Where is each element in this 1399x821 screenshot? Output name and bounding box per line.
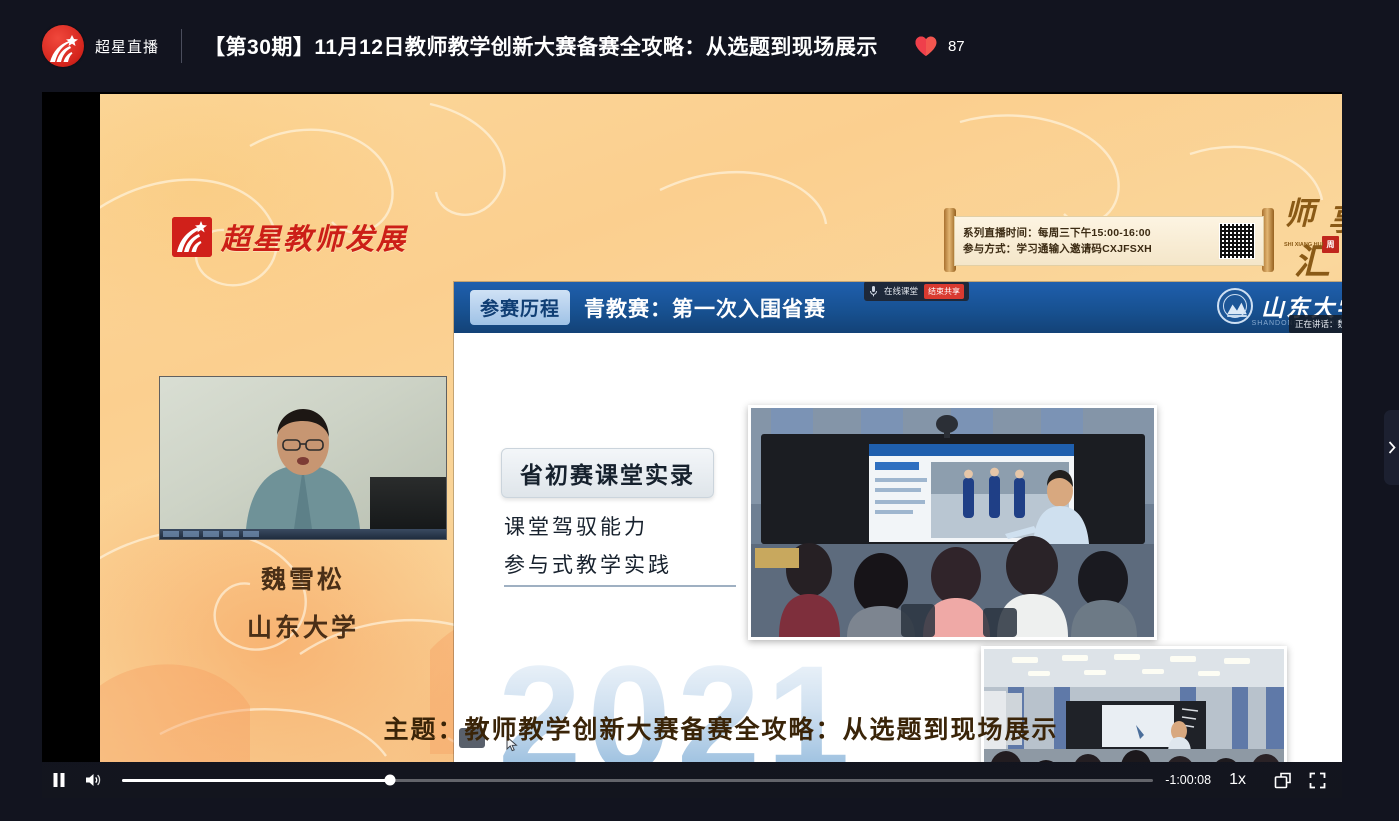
end-share-button[interactable]: 结束共享 xyxy=(924,284,964,299)
shared-screen[interactable]: 参赛历程 青教赛：第一次入围省赛 山东大学 SHANDONG UNIVERSIT… xyxy=(454,282,1342,762)
slide-bullet-1: 课堂驾驭能力 xyxy=(504,511,648,541)
logo-swoosh-icon xyxy=(48,34,80,64)
scroll-paper: 系列直播时间：每周三下午15:00-16:00 参与方式：学习通输入邀请码CXJ… xyxy=(954,216,1264,266)
brand-block: 超星直播 xyxy=(42,25,159,67)
progress-track[interactable] xyxy=(122,779,1153,782)
chaoxing-star-logo-icon xyxy=(42,25,84,67)
webcam-dark-furniture xyxy=(370,477,446,529)
picture-in-picture-button[interactable] xyxy=(1266,762,1300,798)
qr-code-icon xyxy=(1219,223,1255,259)
taskbar-item xyxy=(203,531,219,537)
taskbar-item xyxy=(223,531,239,537)
shixianghui-calligraphy: 师 享 汇 周 SHI XIANG HUI xyxy=(1282,196,1342,288)
slide-section-chip: 参赛历程 xyxy=(470,290,570,325)
expand-side-panel-button[interactable] xyxy=(1384,410,1399,485)
teacher-development-logo: 超星教师发展 xyxy=(172,216,407,258)
slide-header-title: 青教赛：第一次入围省赛 xyxy=(584,293,826,323)
taskbar-item xyxy=(163,531,179,537)
playback-rate-button[interactable]: 1x xyxy=(1229,771,1246,789)
player-controls: -1:00:08 1x xyxy=(42,762,1342,798)
chaoxing-mark-icon xyxy=(172,217,212,257)
calligraphy-pinyin: SHI XIANG HUI xyxy=(1284,242,1323,249)
video-stage[interactable]: 超星教师发展 系列直播时间：每周三下午15:00-16:00 参与方式：学习通输… xyxy=(42,92,1342,762)
live-title: 【第30期】11月12日教师教学创新大赛备赛全攻略：从选题到现场展示 xyxy=(204,31,878,61)
divider xyxy=(181,29,182,63)
picture-in-picture-icon xyxy=(1274,772,1292,789)
teacher-development-logo-text: 超星教师发展 xyxy=(221,216,407,258)
classroom-photo-1 xyxy=(748,405,1157,640)
progress-fill xyxy=(122,779,390,782)
brand-name: 超星直播 xyxy=(95,36,159,57)
volume-icon xyxy=(84,772,102,788)
heart-icon xyxy=(914,35,938,57)
presenter-webcam xyxy=(159,376,447,540)
theme-banner: 主题：教师教学创新大赛备赛全攻略：从选题到现场展示 xyxy=(100,710,1342,746)
play-pause-button[interactable] xyxy=(42,762,76,798)
calligraphy-char-xiang: 享 xyxy=(1328,204,1342,235)
seal-stamp-icon: 周 xyxy=(1322,236,1339,253)
fullscreen-button[interactable] xyxy=(1300,762,1334,798)
slide-body: 省初赛课堂实录 课堂驾驭能力 参与式教学实践 2021 xyxy=(454,333,1342,762)
shandong-university-emblem-icon xyxy=(1217,288,1253,324)
slide-header: 参赛历程 青教赛：第一次入围省赛 山东大学 SHANDONG UNIVERSIT… xyxy=(454,282,1342,333)
slide-bullet-2: 参与式教学实践 xyxy=(504,549,672,579)
emblem-mountain-icon xyxy=(1221,292,1253,324)
bullet-underline xyxy=(504,585,736,587)
seek-bar[interactable] xyxy=(110,762,1165,798)
captured-taskbar xyxy=(160,529,446,539)
remaining-time: -1:00:08 xyxy=(1165,773,1211,787)
fullscreen-icon xyxy=(1309,772,1326,789)
like-counter[interactable]: 87 xyxy=(914,35,965,57)
classroom-photo-1-image xyxy=(751,408,1154,637)
slide-pill-title: 省初赛课堂实录 xyxy=(501,448,714,498)
meeting-mini-toolbar[interactable]: 在线课堂 结束共享 xyxy=(864,282,969,301)
star-swoosh-icon xyxy=(172,217,212,257)
volume-button[interactable] xyxy=(76,762,110,798)
speaking-indicator: 正在讲话：魏雪松 xyxy=(1289,315,1342,333)
taskbar-item xyxy=(243,531,259,537)
online-classroom-label: 在线课堂 xyxy=(884,285,918,297)
taskbar-item xyxy=(183,531,199,537)
pause-icon xyxy=(52,772,66,788)
calligraphy-char-shi: 师 xyxy=(1284,198,1315,229)
microphone-icon xyxy=(869,285,878,297)
info-scroll-banner: 系列直播时间：每周三下午15:00-16:00 参与方式：学习通输入邀请码CXJ… xyxy=(944,204,1274,276)
top-bar: 超星直播 【第30期】11月12日教师教学创新大赛备赛全攻略：从选题到现场展示 … xyxy=(0,0,1399,92)
like-count: 87 xyxy=(948,38,965,55)
progress-knob[interactable] xyxy=(385,775,396,786)
presenter-name: 魏雪松 xyxy=(159,560,447,596)
chevron-right-icon xyxy=(1388,441,1396,454)
schedule-line: 系列直播时间：每周三下午15:00-16:00 xyxy=(963,225,1215,241)
presenter-organization: 山东大学 xyxy=(159,608,447,644)
presenter-figure xyxy=(228,407,378,529)
join-method-line: 参与方式：学习通输入邀请码CXJFSXH xyxy=(963,241,1215,257)
